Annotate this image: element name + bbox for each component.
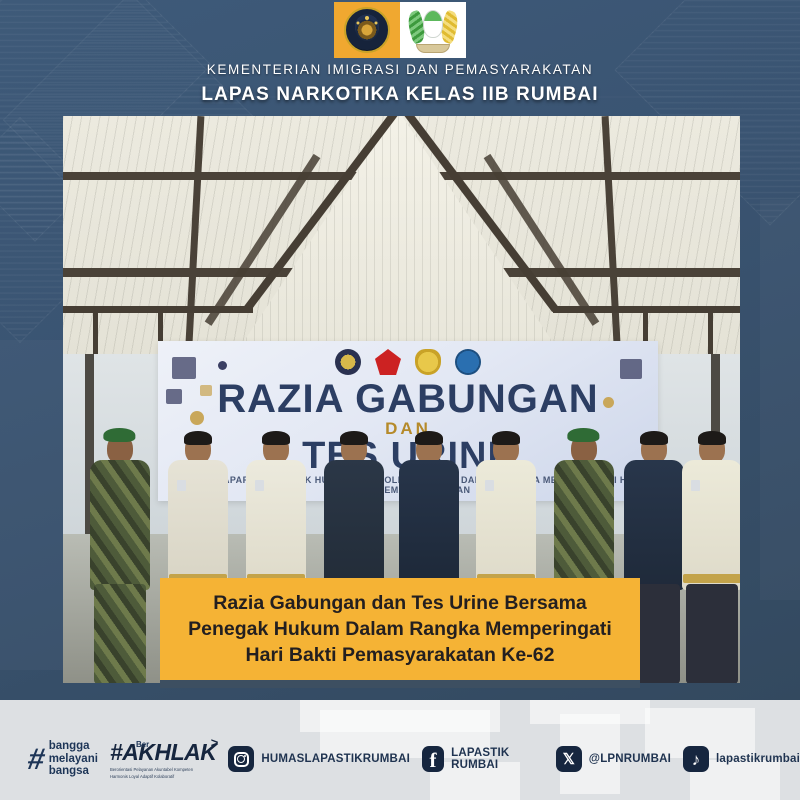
social-instagram[interactable]: HUMASLAPASTIKRUMBAI	[228, 746, 410, 772]
banner-agency-logos	[158, 349, 658, 375]
tiktok-handle: lapastikrumbai	[716, 753, 800, 765]
x-twitter-icon[interactable]: 𝕏	[556, 746, 582, 772]
social-tiktok[interactable]: ♪ lapastikrumbai	[683, 746, 800, 772]
bg-band-1	[0, 340, 70, 670]
pemasyarakatan-wreath-emblem-icon	[400, 2, 466, 58]
social-x[interactable]: 𝕏 @LPNRUMBAI	[556, 746, 671, 772]
instagram-handle: HUMASLAPASTIKRUMBAI	[261, 753, 410, 765]
polri-logo-icon	[415, 349, 441, 375]
poster-canvas: KEMENTERIAN IMIGRASI DAN PEMASYARAKATAN …	[0, 0, 800, 800]
ber-akhlak-logo-icon: > Ber #AKHLAK Berorientasi Pelayanan Aku…	[110, 739, 216, 779]
unit-name: LAPAS NARKOTIKA KELAS IIB RUMBAI	[0, 84, 800, 106]
garuda-ministry-seal-icon	[334, 2, 400, 58]
bg-band-2	[760, 200, 800, 600]
akhlak-wordmark: #AKHLAK	[110, 739, 216, 766]
social-facebook[interactable]: f LAPASTIK RUMBAI	[422, 746, 544, 772]
facebook-handle: LAPASTIK RUMBAI	[451, 747, 544, 771]
truss-web-4	[708, 312, 713, 360]
person-officer-9	[677, 434, 740, 683]
footer-bar: # bangga melayani bangsa > Ber #AKHLAK B…	[0, 700, 800, 800]
akhlak-sub-2: Harmonis Loyal Adaptif Kolaboratif	[110, 774, 216, 779]
x-handle: @LPNRUMBAI	[589, 753, 671, 765]
bangga-melayani-bangsa-words: bangga melayani bangsa	[49, 740, 98, 777]
caption-shadow-bar	[160, 680, 640, 688]
hash-glyph: #	[26, 746, 47, 773]
hall-roof	[63, 116, 740, 361]
ministry-name: KEMENTERIAN IMIGRASI DAN PEMASYARAKATAN	[0, 62, 800, 77]
person-military-1	[85, 434, 155, 683]
akhlak-prefix: Ber	[136, 740, 149, 749]
truss-web-1	[93, 312, 98, 360]
tiktok-icon[interactable]: ♪	[683, 746, 709, 772]
akhlak-arrow-icon: >	[211, 735, 219, 750]
instagram-icon[interactable]	[228, 746, 254, 772]
bmb-line-2: melayani	[49, 753, 98, 765]
kemenkumham-logo-icon	[335, 349, 361, 375]
facebook-icon[interactable]: f	[422, 746, 444, 772]
akhlak-sub-1: Berorientasi Pelayanan Akuntabel Kompete…	[110, 767, 216, 772]
bmb-line-3: bangsa	[49, 765, 98, 777]
bnn-logo-icon	[455, 349, 481, 375]
bangga-melayani-bangsa-logo-icon: # bangga melayani bangsa	[28, 740, 98, 777]
footer-content-row: # bangga melayani bangsa > Ber #AKHLAK B…	[0, 736, 800, 782]
bmb-line-1: bangga	[49, 740, 98, 752]
caption-box: Razia Gabungan dan Tes Urine Bersama Pen…	[160, 578, 640, 680]
header-logo-row	[0, 2, 800, 58]
banner-line-1: RAZIA GABUNGAN	[158, 377, 658, 422]
akhlak-hash: #	[110, 739, 122, 765]
tni-logo-icon	[375, 349, 401, 375]
caption-text: Razia Gabungan dan Tes Urine Bersama Pen…	[178, 590, 622, 669]
